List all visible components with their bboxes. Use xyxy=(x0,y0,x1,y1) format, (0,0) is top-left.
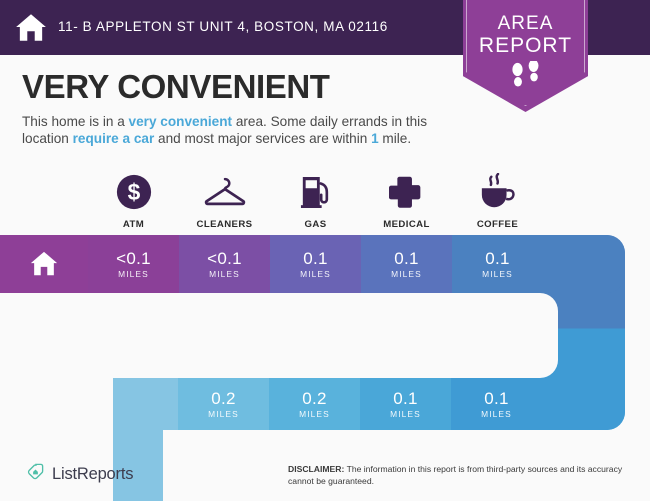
distance-cell-pharmacy: 0.1 MILES xyxy=(360,378,451,430)
distance-unit: MILES xyxy=(208,409,239,419)
amenity-atm: $ ATM xyxy=(88,172,179,230)
area-report-infographic: 11- B APPLETON ST UNIT 4, BOSTON, MA 021… xyxy=(0,0,650,501)
summary-text-4: mile. xyxy=(379,131,411,146)
distance-cell-cleaners: <0.1 MILES xyxy=(179,235,270,293)
distance-cell-atm: <0.1 MILES xyxy=(88,235,179,293)
middle-white-panel xyxy=(0,293,558,378)
coffee-cup-icon xyxy=(478,172,518,212)
distance-bar-bottom: 0.2 MILES 0.2 MILES 0.1 MILES 0.1 MILES xyxy=(113,378,625,430)
badge-line2: REPORT xyxy=(463,34,588,58)
summary-highlight-3: 1 xyxy=(371,131,379,146)
amenity-coffee: COFFEE xyxy=(452,172,543,230)
amenity-label: CLEANERS xyxy=(197,219,253,230)
distance-cell-gas: 0.1 MILES xyxy=(270,235,361,293)
listreports-logo[interactable]: ListReports xyxy=(26,462,133,486)
medical-cross-icon xyxy=(389,172,424,212)
distance-unit: MILES xyxy=(481,409,512,419)
distance-cell-coffee: 0.1 MILES xyxy=(452,235,543,293)
summary-highlight-2: require a car xyxy=(73,131,155,146)
distance-value: <0.1 xyxy=(207,250,242,268)
home-marker-cell xyxy=(0,235,88,293)
distance-bar-top: <0.1 MILES <0.1 MILES 0.1 MILES 0.1 MILE… xyxy=(0,235,625,293)
bar-bottom-tail xyxy=(542,378,625,430)
distance-unit: MILES xyxy=(118,269,149,279)
home-icon xyxy=(29,249,59,279)
distance-unit: MILES xyxy=(300,269,331,279)
summary-text-1: This home is in a xyxy=(22,114,129,129)
distance-cell-groceries: 0.2 MILES xyxy=(178,378,269,430)
distance-cell-movie-theater: 0.2 MILES xyxy=(269,378,360,430)
home-icon xyxy=(14,11,48,45)
bar-bottom-lead xyxy=(113,378,178,430)
badge-line1: AREA xyxy=(463,13,588,35)
distance-cell-gym: 0.1 MILES xyxy=(451,378,542,430)
distance-unit: MILES xyxy=(482,269,513,279)
distance-value: <0.1 xyxy=(116,250,151,268)
disclaimer: DISCLAIMER: The information in this repo… xyxy=(288,464,633,487)
listreports-tag-icon xyxy=(26,462,45,486)
disclaimer-label: DISCLAIMER: xyxy=(288,464,344,474)
bar-top-tail xyxy=(543,235,625,293)
distance-value: 0.2 xyxy=(302,390,327,408)
distance-value: 0.1 xyxy=(303,250,328,268)
listreports-wordmark: ListReports xyxy=(52,465,133,484)
distance-unit: MILES xyxy=(209,269,240,279)
distance-value: 0.1 xyxy=(394,250,419,268)
area-report-badge: AREA REPORT xyxy=(463,0,588,112)
summary-text-3: and most major services are within xyxy=(154,131,371,146)
amenity-label: MEDICAL xyxy=(383,219,430,230)
page-title: VERY CONVENIENT xyxy=(22,68,330,106)
summary-text: This home is in a very convenient area. … xyxy=(22,114,462,147)
property-address: 11- B APPLETON ST UNIT 4, BOSTON, MA 021… xyxy=(58,19,388,34)
amenity-icon-row-top: $ ATM CLEANERS G xyxy=(88,172,543,230)
distance-value: 0.1 xyxy=(484,390,509,408)
distance-unit: MILES xyxy=(390,409,421,419)
amenity-label: GAS xyxy=(305,219,327,230)
amenity-cleaners: CLEANERS xyxy=(179,172,270,230)
amenity-label: COFFEE xyxy=(477,219,518,230)
hanger-icon xyxy=(203,172,247,212)
distance-value: 0.2 xyxy=(211,390,236,408)
dollar-circle-icon: $ xyxy=(115,172,153,212)
amenity-label: ATM xyxy=(123,219,144,230)
svg-text:$: $ xyxy=(127,179,140,205)
distance-cell-medical: 0.1 MILES xyxy=(361,235,452,293)
amenity-medical: MEDICAL xyxy=(361,172,452,230)
distance-unit: MILES xyxy=(299,409,330,419)
amenity-gas: GAS xyxy=(270,172,361,230)
gas-pump-icon xyxy=(300,172,332,212)
distance-value: 0.1 xyxy=(485,250,510,268)
summary-highlight-1: very convenient xyxy=(129,114,233,129)
distance-value: 0.1 xyxy=(393,390,418,408)
footprints-icon xyxy=(507,61,545,95)
distance-unit: MILES xyxy=(391,269,422,279)
